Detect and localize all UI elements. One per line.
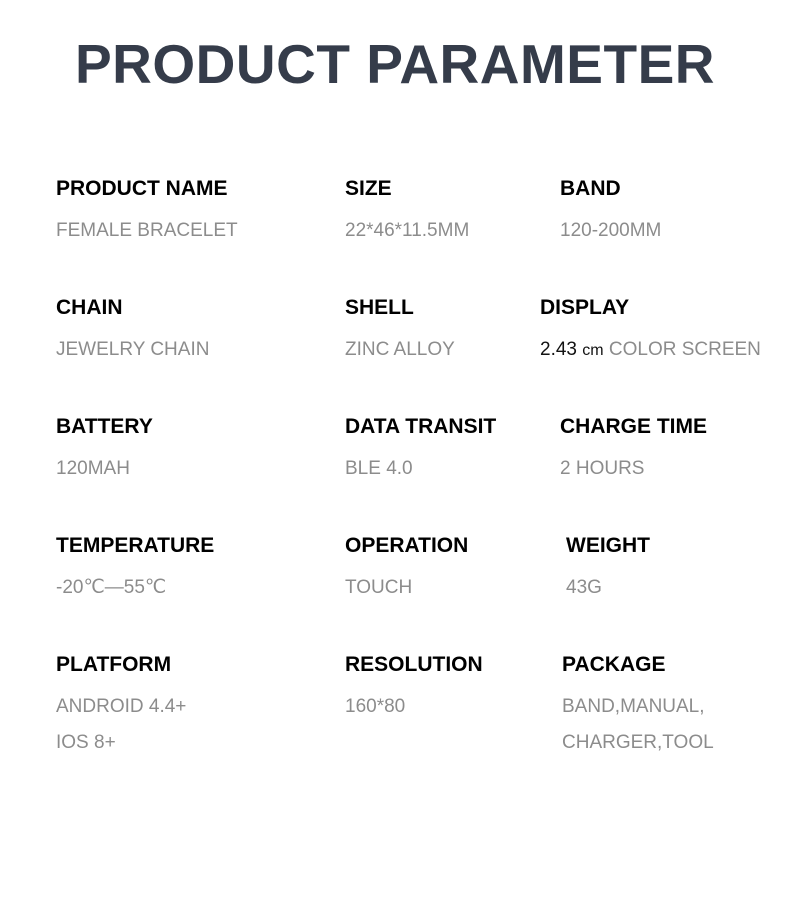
display-measurement-unit: cm [582,342,603,359]
product-parameter-page: PRODUCT PARAMETER PRODUCT NAME FEMALE BR… [0,0,790,917]
page-title: PRODUCT PARAMETER [0,34,790,95]
spec-cell-platform: PLATFORM ANDROID 4.4+ IOS 8+ [56,654,186,752]
spec-label: WEIGHT [566,535,650,556]
spec-cell-size: SIZE 22*46*11.5MM [345,178,469,240]
spec-cell-temperature: TEMPERATURE -20℃—55℃ [56,535,214,597]
spec-value: TOUCH [345,578,468,597]
spec-label: PRODUCT NAME [56,178,238,199]
display-measurement-number: 2.43 [540,339,577,360]
spec-cell-operation: OPERATION TOUCH [345,535,468,597]
spec-label: RESOLUTION [345,654,483,675]
spec-value: 120MAH [56,459,153,478]
spec-value: ANDROID 4.4+ [56,697,186,716]
spec-value-line-2: CHARGER,TOOL [562,733,714,752]
spec-value: ZINC ALLOY [345,340,455,359]
spec-row: CHAIN JEWELRY CHAIN SHELL ZINC ALLOY DIS… [0,297,790,416]
spec-value: FEMALE BRACELET [56,221,238,240]
spec-value: 2 HOURS [560,459,707,478]
spec-value: 43G [566,578,650,597]
spec-cell-data-transit: DATA TRANSIT BLE 4.0 [345,416,496,478]
spec-cell-package: PACKAGE BAND,MANUAL, CHARGER,TOOL [562,654,714,752]
spec-row: BATTERY 120MAH DATA TRANSIT BLE 4.0 CHAR… [0,416,790,535]
spec-row: TEMPERATURE -20℃—55℃ OPERATION TOUCH WEI… [0,535,790,654]
spec-label: CHAIN [56,297,209,318]
spec-value: BAND,MANUAL, [562,697,714,716]
spec-row: PLATFORM ANDROID 4.4+ IOS 8+ RESOLUTION … [0,654,790,773]
spec-value: 2.43 cm COLOR SCREEN [540,340,761,359]
spec-value: 22*46*11.5MM [345,221,469,240]
spec-cell-battery: BATTERY 120MAH [56,416,153,478]
spec-cell-charge-time: CHARGE TIME 2 HOURS [560,416,707,478]
spec-cell-resolution: RESOLUTION 160*80 [345,654,483,716]
spec-cell-product-name: PRODUCT NAME FEMALE BRACELET [56,178,238,240]
spec-label: CHARGE TIME [560,416,707,437]
spec-cell-band: BAND 120-200MM [560,178,661,240]
spec-cell-chain: CHAIN JEWELRY CHAIN [56,297,209,359]
spec-label: BATTERY [56,416,153,437]
spec-label: DISPLAY [540,297,761,318]
spec-value: BLE 4.0 [345,459,496,478]
display-value-rest: COLOR SCREEN [609,339,761,360]
spec-label: PACKAGE [562,654,714,675]
spec-value: JEWELRY CHAIN [56,340,209,359]
spec-cell-display: DISPLAY 2.43 cm COLOR SCREEN [540,297,761,359]
spec-value: 160*80 [345,697,483,716]
display-measurement: 2.43 cm [540,339,604,360]
spec-label: SHELL [345,297,455,318]
spec-row: PRODUCT NAME FEMALE BRACELET SIZE 22*46*… [0,178,790,297]
spec-label: SIZE [345,178,469,199]
spec-cell-shell: SHELL ZINC ALLOY [345,297,455,359]
spec-cell-weight: WEIGHT 43G [566,535,650,597]
spec-label: OPERATION [345,535,468,556]
spec-label: BAND [560,178,661,199]
spec-label: TEMPERATURE [56,535,214,556]
spec-label: DATA TRANSIT [345,416,496,437]
spec-value: 120-200MM [560,221,661,240]
spec-value-line-2: IOS 8+ [56,733,186,752]
spec-value: -20℃—55℃ [56,578,214,597]
spec-grid: PRODUCT NAME FEMALE BRACELET SIZE 22*46*… [0,178,790,773]
spec-label: PLATFORM [56,654,186,675]
